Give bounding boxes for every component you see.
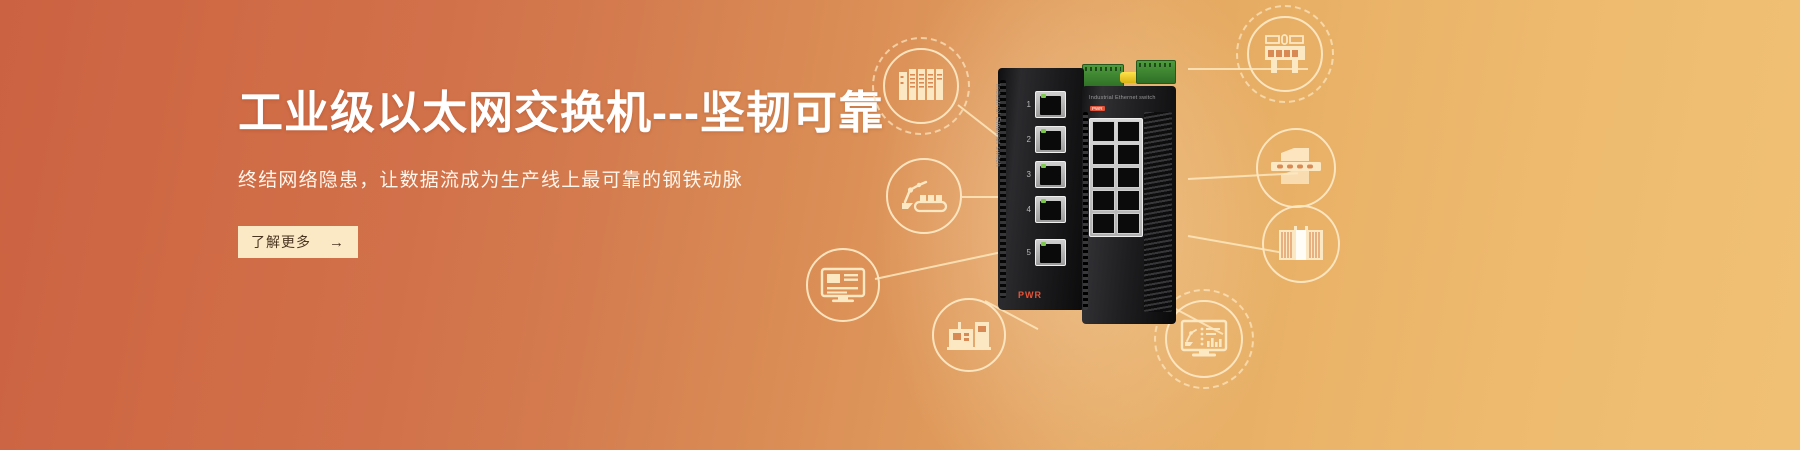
rj45-port <box>1092 213 1115 234</box>
rj45-port <box>1117 213 1140 234</box>
rj45-port <box>1117 121 1140 142</box>
plc-controller-icon <box>883 48 959 124</box>
port-number: 3 <box>1020 170 1031 179</box>
heat-sink-fins <box>1144 112 1172 312</box>
learn-more-button[interactable]: 了解更多 → <box>238 226 358 258</box>
power-supply-icon <box>1262 205 1340 283</box>
port-row: 5 <box>1020 238 1078 267</box>
port-column-left: 1 2 3 4 5 <box>1020 90 1078 273</box>
port-number: 4 <box>1020 205 1031 214</box>
green-terminal-block-2 <box>1136 60 1176 84</box>
learn-more-label: 了解更多 <box>251 232 311 252</box>
din-rail-icon <box>1256 128 1336 208</box>
rj45-port <box>1035 91 1066 118</box>
device-right-label: Industrial Ethernet switch <box>1089 95 1156 101</box>
robot-conveyor-icon <box>886 158 962 234</box>
rj45-port <box>1117 144 1140 165</box>
pwr-led-indicator: PWR <box>1090 106 1105 111</box>
port-led <box>1041 164 1046 168</box>
arrow-right-icon: → <box>329 235 345 250</box>
port-number: 2 <box>1020 135 1031 144</box>
vent-slots <box>1083 112 1088 310</box>
rj45-port <box>1035 126 1066 153</box>
port-led <box>1041 129 1046 133</box>
port-led <box>1041 94 1046 98</box>
rj45-port <box>1117 167 1140 188</box>
port-grid-right <box>1089 118 1143 237</box>
rj45-port <box>1117 190 1140 211</box>
green-terminal-block-1 <box>1082 64 1124 88</box>
workstation-icon <box>806 248 880 322</box>
hero-copy-block: 工业级以太网交换机---坚韧可靠 终结网络隐患，让数据流成为生产线上最可靠的钢铁… <box>238 88 878 258</box>
port-row: 1 <box>1020 90 1078 119</box>
icon-node-din-rail[interactable] <box>1256 128 1336 208</box>
port-row: 3 <box>1020 160 1078 189</box>
hero-subtitle: 终结网络隐患，让数据流成为生产线上最可靠的钢铁动脉 <box>238 168 878 195</box>
rj45-port <box>1035 239 1066 266</box>
icon-node-power-supply[interactable] <box>1262 205 1340 283</box>
port-led <box>1041 242 1046 246</box>
port-led <box>1041 199 1046 203</box>
rj45-port <box>1092 144 1115 165</box>
icon-node-robot-conveyor[interactable] <box>886 158 962 234</box>
switch-device-left: Industrial Ethernet switch 1 2 3 4 <box>998 68 1084 310</box>
switch-device-right: Industrial Ethernet switch PWR <box>1082 86 1176 324</box>
port-row: 4 <box>1020 195 1078 224</box>
port-number: 1 <box>1020 100 1031 109</box>
connector-line-workstation <box>875 251 1003 280</box>
rj45-port <box>1092 190 1115 211</box>
page-title: 工业级以太网交换机---坚韧可靠 <box>238 88 878 138</box>
rj45-port <box>1035 161 1066 188</box>
icon-node-plc-controller[interactable] <box>883 48 959 124</box>
icon-node-workstation[interactable] <box>806 248 880 322</box>
pwr-led-label: PWR <box>1018 290 1042 300</box>
port-number: 5 <box>1020 248 1031 257</box>
port-row: 2 <box>1020 125 1078 154</box>
device-left-label: Industrial Ethernet switch <box>994 84 1001 184</box>
rj45-port <box>1035 196 1066 223</box>
icon-node-terminal-block[interactable] <box>1247 16 1323 92</box>
rj45-port <box>1092 167 1115 188</box>
hero-banner: 工业级以太网交换机---坚韧可靠 终结网络隐患，让数据流成为生产线上最可靠的钢铁… <box>0 0 1800 450</box>
rj45-port <box>1092 121 1115 142</box>
product-image: Industrial Ethernet switch 1 2 3 4 <box>990 28 1220 318</box>
terminal-block-icon <box>1247 16 1323 92</box>
